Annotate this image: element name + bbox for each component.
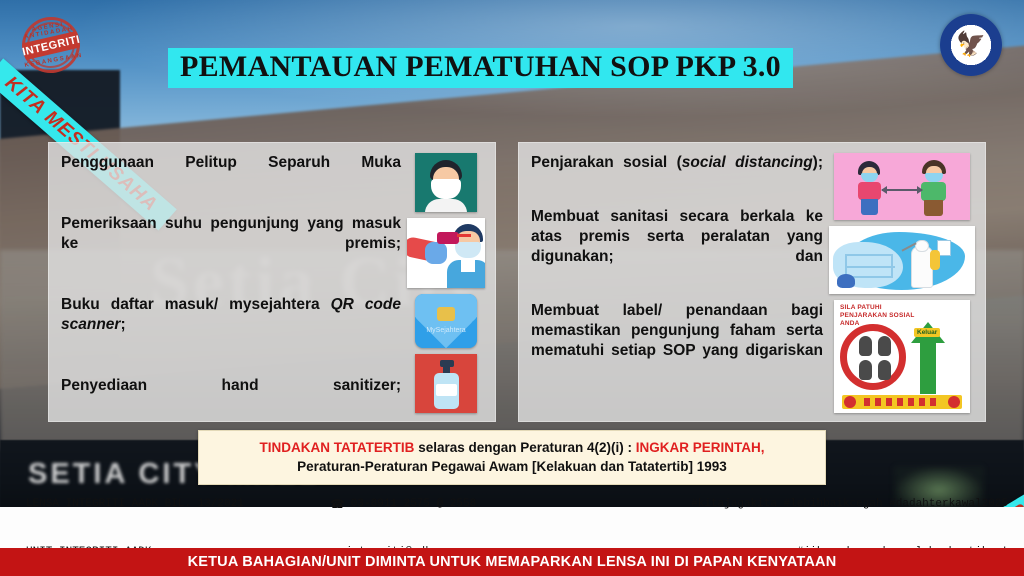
warning-red-b: INGKAR PERINTAH, <box>636 440 765 455</box>
eagle-icon: 🦅 <box>956 33 986 57</box>
warning-line-1: TINDAKAN TATATERTIB selaras dengan Perat… <box>209 438 815 457</box>
aadk-eagle-logo: 🦅 <box>940 14 1002 76</box>
list-item-label: Buku daftar masuk/ mysejahtera <box>61 296 331 313</box>
list-item-label: Membuat sanitasi secara berkala ke atas … <box>531 208 823 265</box>
list-item-label: Membuat label/ penandaan bagi memastikan… <box>531 302 823 359</box>
list-item-label: Penjarakan sosial ( <box>531 154 682 171</box>
list-item: Membuat sanitasi secara berkala ke atas … <box>531 207 823 287</box>
thermometer-scan-icon <box>407 218 485 288</box>
social-distancing-icon <box>834 153 970 220</box>
list-item: Membuat label/ penandaan bagi memastikan… <box>531 301 823 381</box>
list-item-label: Penggunaan Pelitup Separuh Muka <box>61 154 401 171</box>
bottom-bar-text: KETUA BAHAGIAN/UNIT DIMINTA UNTUK MEMAPA… <box>188 554 837 570</box>
list-item: Buku daftar masuk/ mysejahtera QR code s… <box>61 295 401 355</box>
list-item: Penggunaan Pelitup Separuh Muka <box>61 153 401 193</box>
sop-thumbnails-left: MySejahtera <box>407 153 485 413</box>
footer-bulletin-line: LENSA INTEGRITI AADK BIL. 13/2021 <box>26 496 244 512</box>
sop-thumbnails-right: SILA PATUHI PENJARAKAN SOSIAL ANDA Kelua… <box>829 153 975 413</box>
hand-sanitizer-icon <box>415 354 477 413</box>
list-item: Pemeriksaan suhu pengunjung yang masuk k… <box>61 214 401 274</box>
warning-red-a: TINDAKAN TATATERTIB <box>259 440 414 455</box>
page-title: PEMANTAUAN PEMATUHAN SOP PKP 3.0 <box>168 48 793 88</box>
list-item: Penjarakan sosial (social distancing); <box>531 153 823 193</box>
list-item-emphasis: social distancing <box>682 154 813 171</box>
poster-exit-label: Keluar <box>914 328 940 337</box>
social-distance-poster-icon: SILA PATUHI PENJARAKAN SOSIAL ANDA Kelua… <box>834 300 970 413</box>
warning-black: selaras dengan Peraturan 4(2)(i) : <box>414 440 635 455</box>
list-item-label: Penyediaan hand sanitizer; <box>61 377 401 394</box>
list-item-tail: ; <box>120 316 125 333</box>
phone-icon: ☎ <box>330 496 345 512</box>
footer-phone-row: ☎ 03-8911 2575 @ 2558 <box>330 496 478 512</box>
bottom-call-to-action-bar: KETUA BAHAGIAN/UNIT DIMINTA UNTUK MEMAPA… <box>0 548 1024 576</box>
integriti-stamp-logo: AGENSI ANTIDADAH INTEGRITI KEBANGSAAN <box>15 10 86 80</box>
sop-panel-right: Penjarakan sosial (social distancing); M… <box>518 142 986 422</box>
sop-list-left: Penggunaan Pelitup Separuh Muka Pemeriks… <box>61 153 401 413</box>
list-item-tail: ); <box>813 154 823 171</box>
sanitising-worker-icon <box>829 226 975 293</box>
sop-list-right: Penjarakan sosial (social distancing); M… <box>531 153 823 413</box>
page-title-text: PEMANTAUAN PEMATUHAN SOP PKP 3.0 <box>180 50 781 83</box>
list-item-label: Pemeriksaan suhu pengunjung yang masuk k… <box>61 215 401 252</box>
sop-panel-left: Penggunaan Pelitup Separuh Muka Pemeriks… <box>48 142 496 422</box>
footer-hashtag-line-1: #kitajagakita #lebihbaikcegah #dadahterk… <box>691 496 1008 512</box>
footer-bar: LENSA INTEGRITI AADK BIL. 13/2021 UNIT I… <box>0 507 1024 548</box>
footer-phone-number: 03-8911 2575 @ 2558 <box>351 496 476 512</box>
list-item: Penyediaan hand sanitizer; <box>61 376 401 416</box>
mysejahtera-app-icon: MySejahtera <box>415 294 477 349</box>
face-mask-icon <box>415 153 477 212</box>
poster-canvas: Setia City SETIA CITY MALL AGENSI ANTIDA… <box>0 0 1024 576</box>
mysejahtera-label: MySejahtera <box>415 327 477 334</box>
